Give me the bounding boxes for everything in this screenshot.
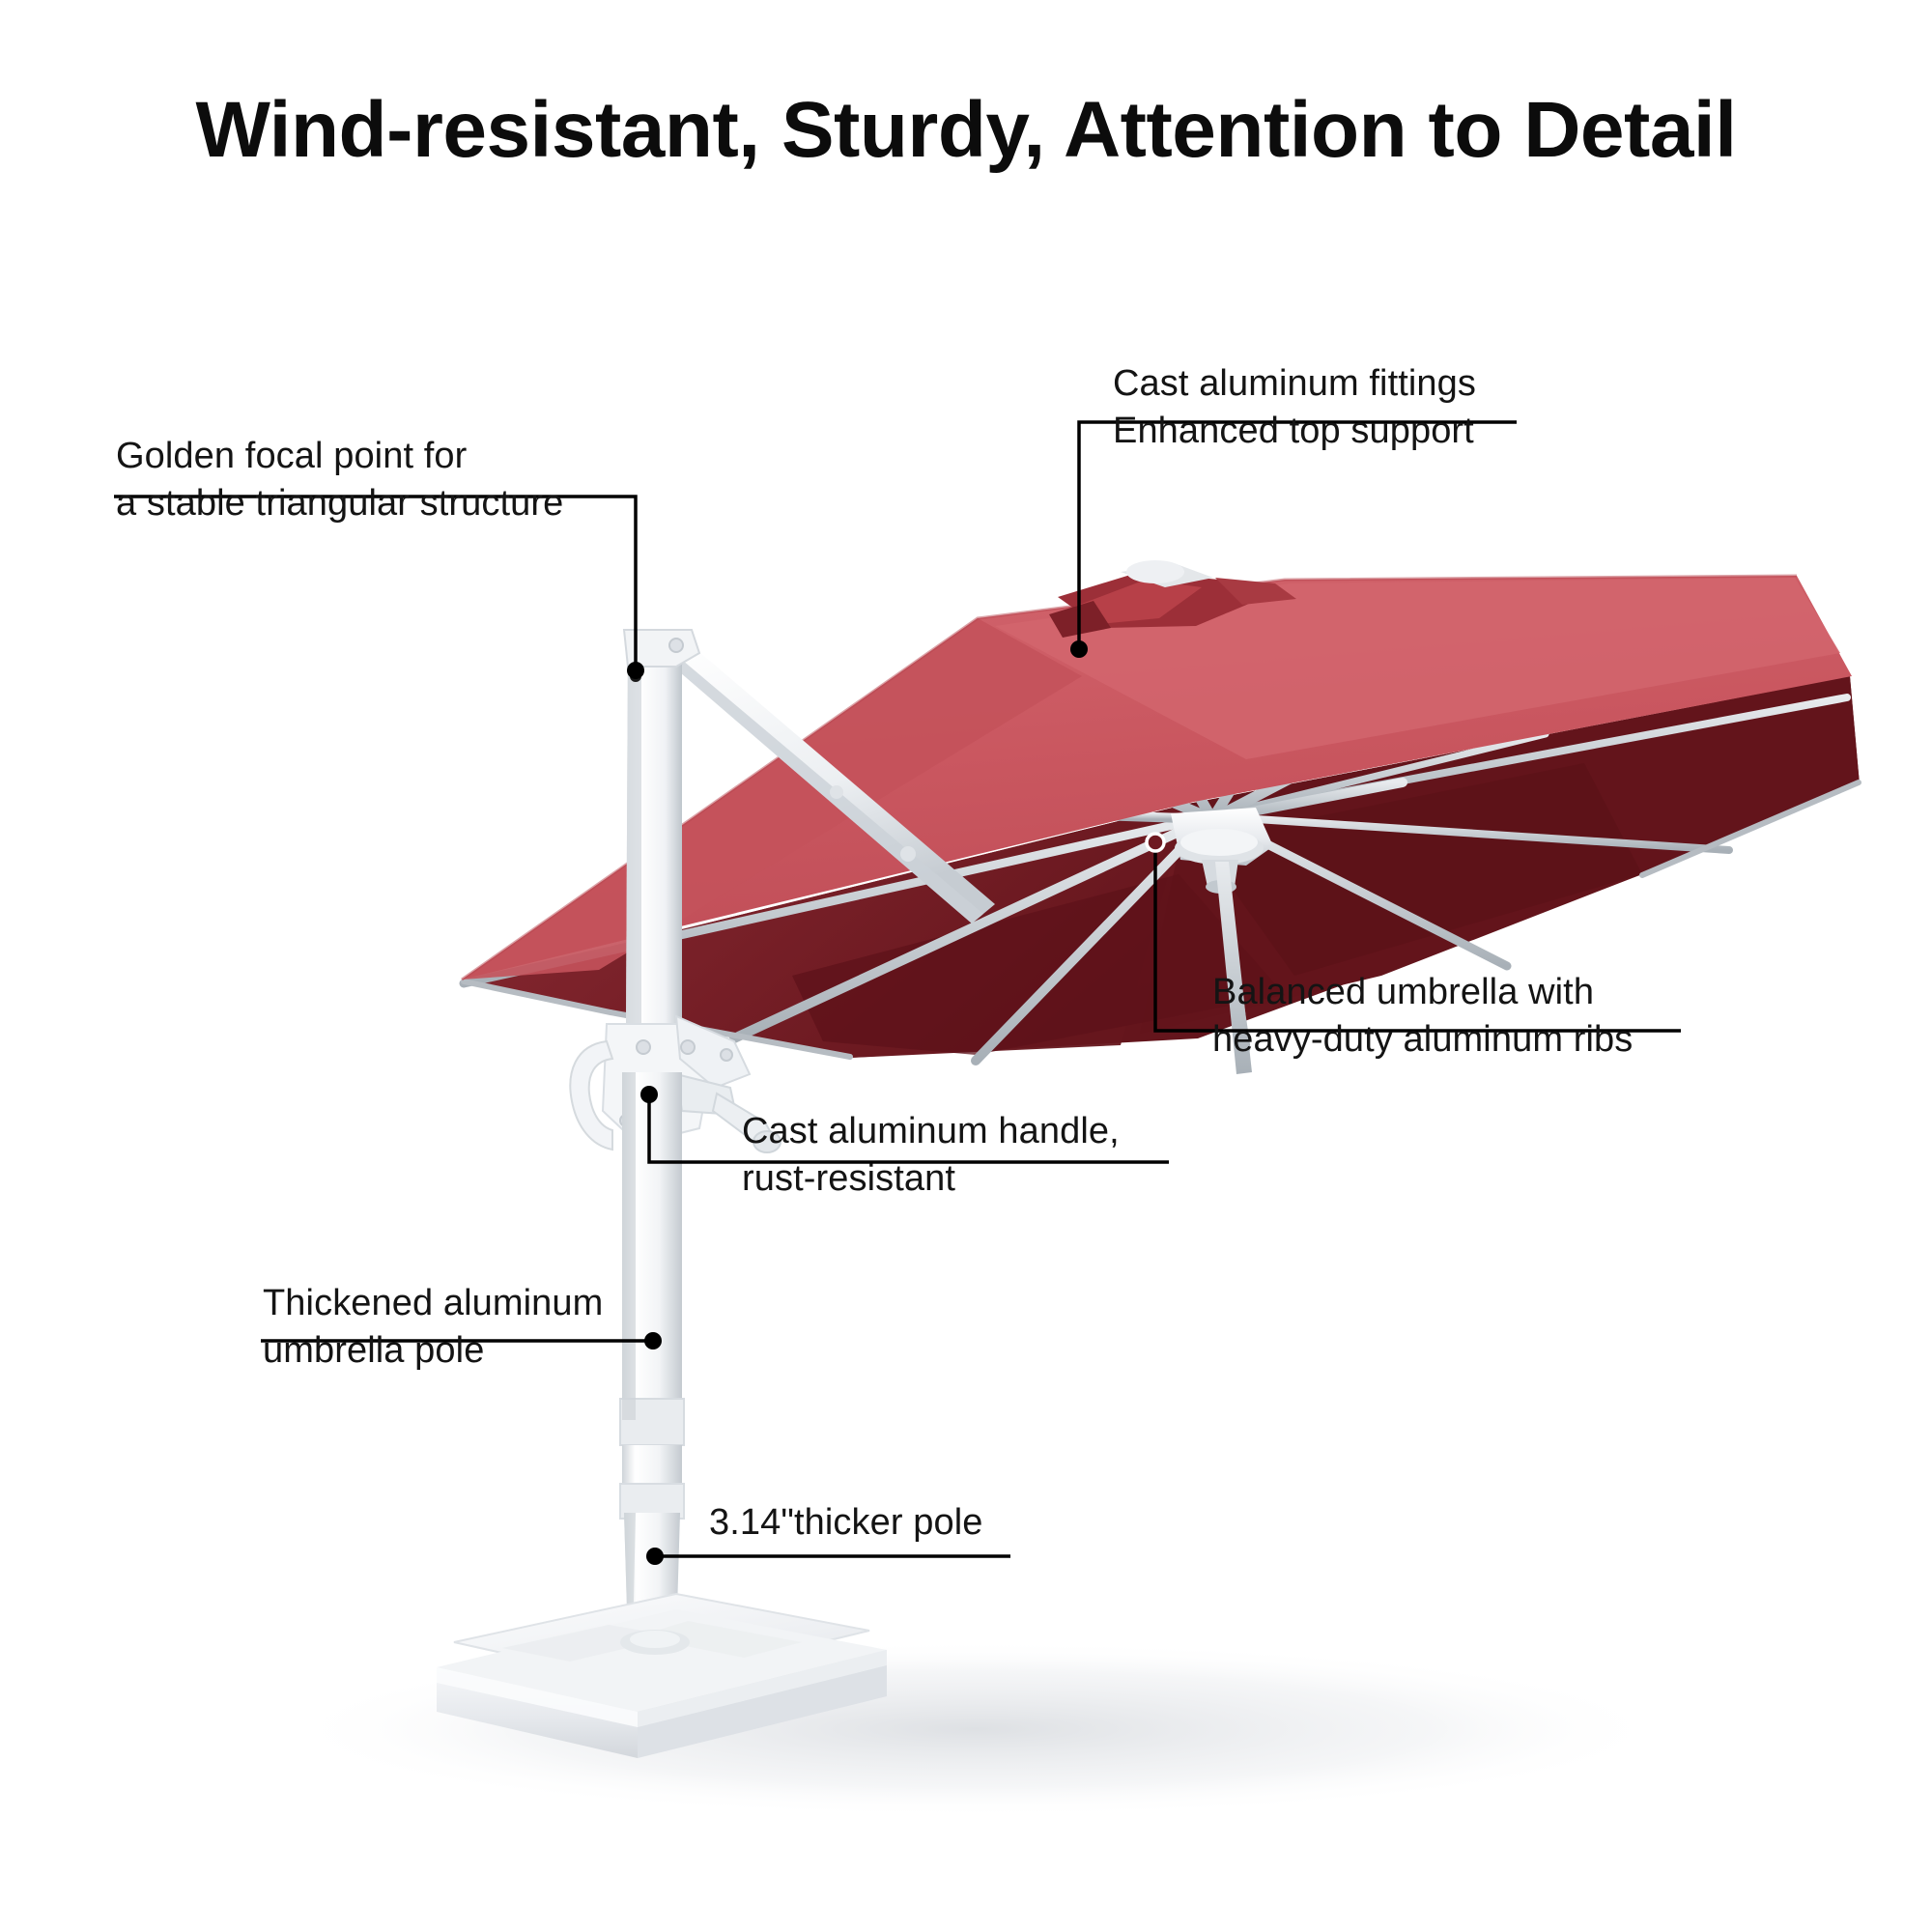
umbrella-pole [620, 1072, 684, 1642]
annotation-balanced-umbrella-ribs: Balanced umbrella with heavy-duty alumin… [1212, 969, 1633, 1063]
annotation-thicker-pole-spec: 3.14"thicker pole [709, 1499, 982, 1547]
annotation-line-2: rust-resistant [742, 1155, 1120, 1203]
annotation-line-2: heavy-duty aluminum ribs [1212, 1016, 1633, 1064]
product-illustration [0, 0, 1932, 1932]
annotation-line-1: Thickened aluminum [263, 1280, 603, 1327]
annotation-line-1: Golden focal point for [116, 433, 563, 480]
annotation-line-1: Cast aluminum fittings [1113, 360, 1476, 408]
infographic-canvas: Wind-resistant, Sturdy, Attention to Det… [0, 0, 1932, 1932]
annotation-golden-focal-point: Golden focal point for a stable triangul… [116, 433, 563, 526]
annotation-cast-aluminum-fittings: Cast aluminum fittings Enhanced top supp… [1113, 360, 1476, 454]
annotation-line-1: Balanced umbrella with [1212, 969, 1633, 1016]
annotation-line-2: umbrella pole [263, 1327, 603, 1375]
annotation-cast-aluminum-handle: Cast aluminum handle, rust-resistant [742, 1108, 1120, 1202]
annotation-line-1: Cast aluminum handle, [742, 1108, 1120, 1155]
annotation-line-1: 3.14"thicker pole [709, 1499, 982, 1547]
annotation-line-2: a stable triangular structure [116, 480, 563, 527]
annotation-thickened-aluminum-pole: Thickened aluminum umbrella pole [263, 1280, 603, 1374]
annotation-line-2: Enhanced top support [1113, 408, 1476, 455]
